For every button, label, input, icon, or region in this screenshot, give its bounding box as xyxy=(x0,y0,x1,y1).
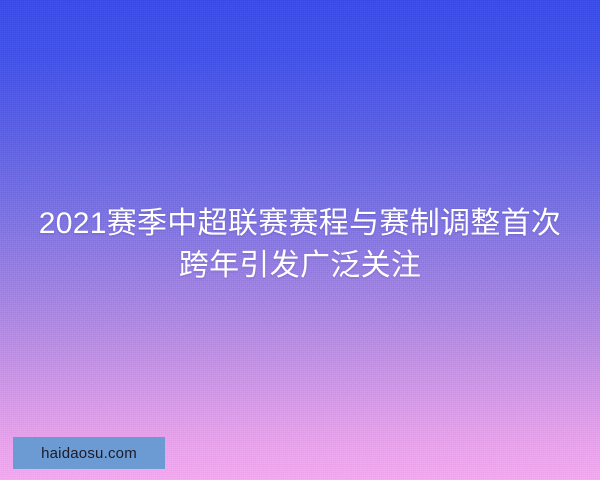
watermark-label: haidaosu.com xyxy=(41,446,137,461)
poster-canvas: 2021赛季中超联赛赛程与赛制调整首次跨年引发广泛关注 haidaosu.com xyxy=(0,0,600,480)
page-title: 2021赛季中超联赛赛程与赛制调整首次跨年引发广泛关注 xyxy=(0,203,600,287)
watermark-badge: haidaosu.com xyxy=(13,437,165,469)
page-title-line-2: 跨年引发广泛关注 xyxy=(179,249,421,282)
page-title-line-1: 2021赛季中超联赛赛程与赛制调整首次 xyxy=(39,207,561,240)
